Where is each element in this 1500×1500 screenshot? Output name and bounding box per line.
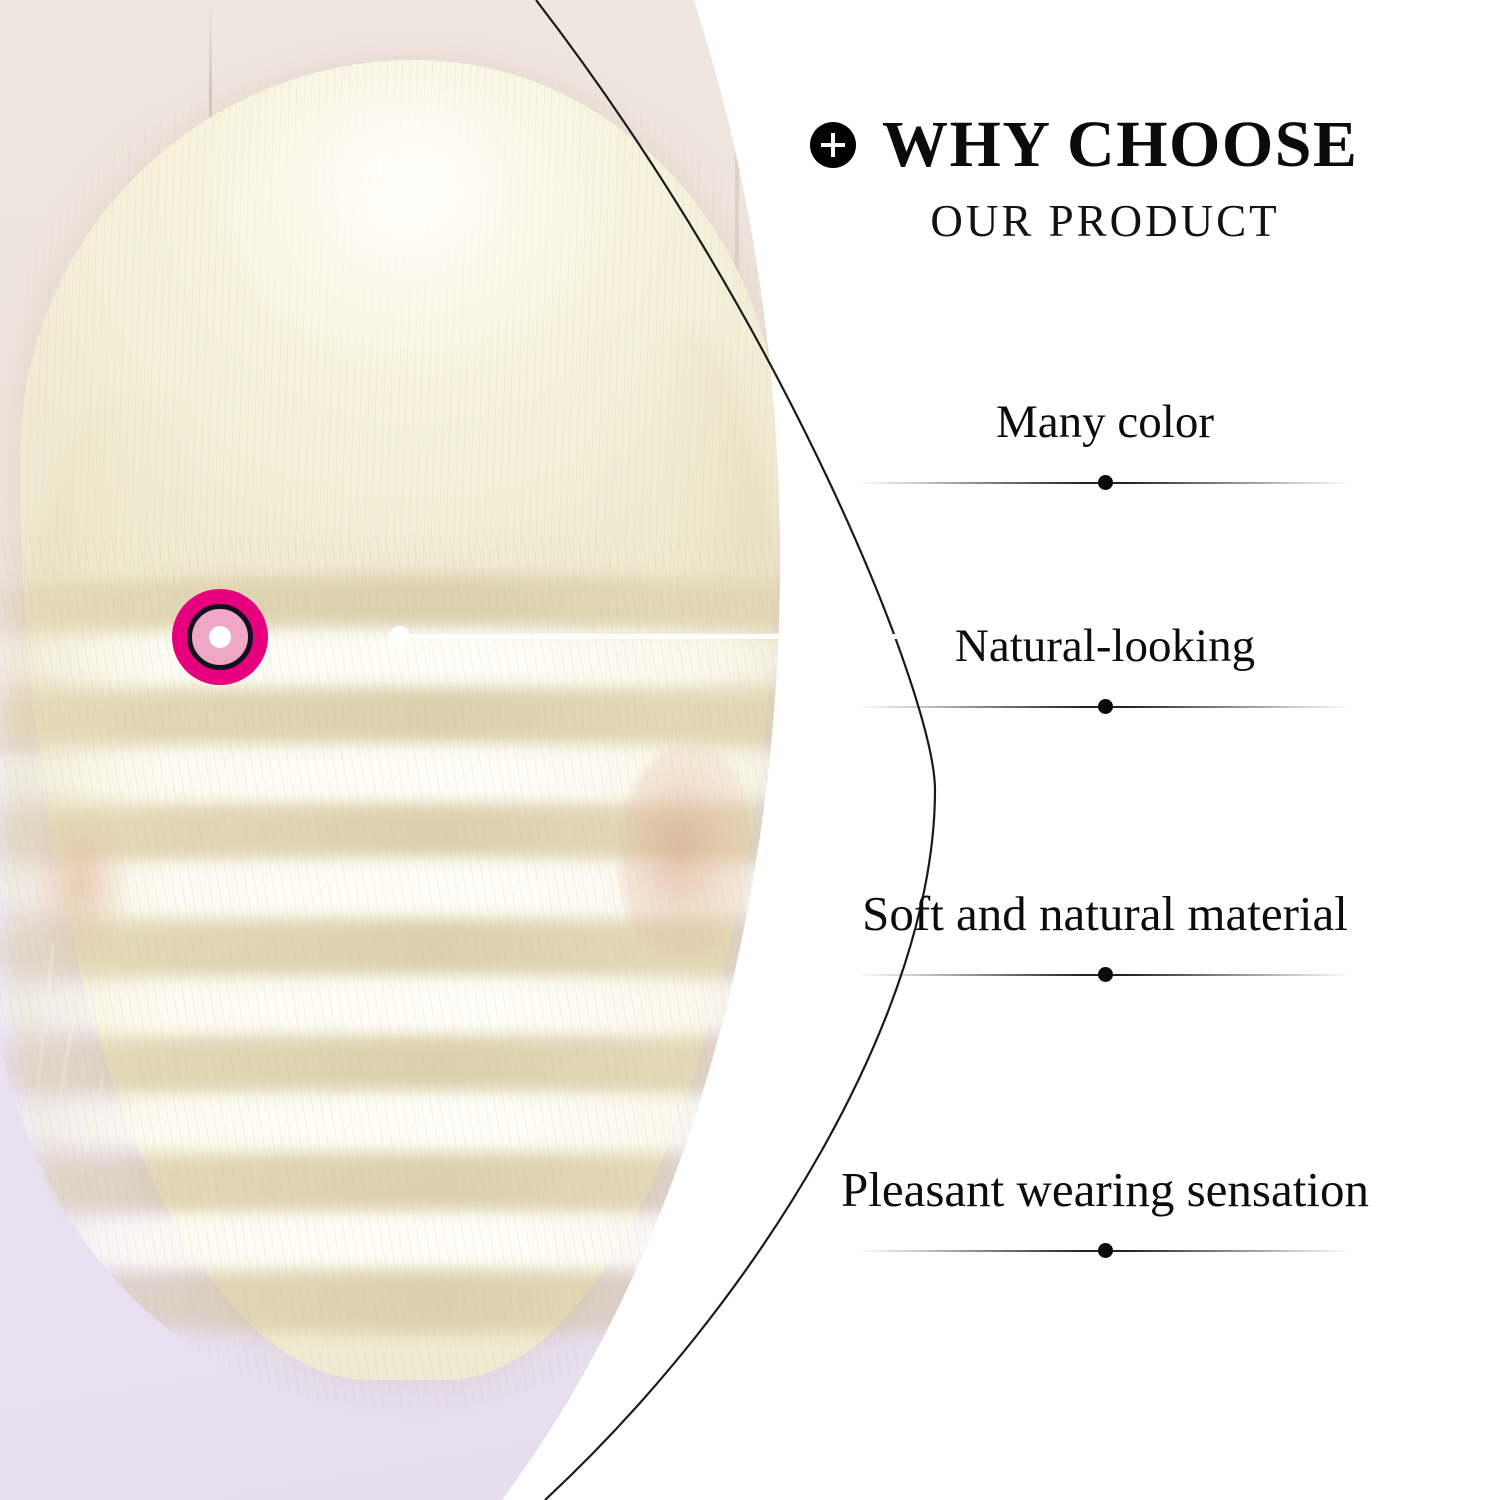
page-title: WHY CHOOSE (882, 112, 1358, 178)
divider-dot (1098, 475, 1113, 490)
feature-divider (856, 697, 1354, 717)
title-row: WHY CHOOSE (810, 112, 1358, 178)
page-subtitle: OUR PRODUCT (760, 195, 1450, 247)
infographic-canvas: WHY CHOOSE OUR PRODUCT Many color Natura… (0, 0, 1500, 1500)
feature-divider (856, 473, 1354, 493)
feature-item-soft-material: Soft and natural material (760, 888, 1450, 985)
divider-dot (1098, 967, 1113, 982)
marker-pointer-line (400, 634, 940, 639)
divider-dot (1098, 1243, 1113, 1258)
plus-circle-icon (810, 122, 856, 168)
feature-divider (856, 965, 1354, 985)
natural-looking-marker-icon (172, 589, 268, 685)
product-photo (0, 0, 880, 1500)
lace-cap-patch-right (620, 746, 749, 957)
hair-crown-highlight (233, 86, 583, 350)
lace-cap-patch-left (35, 812, 126, 957)
feature-item-pleasant-wearing: Pleasant wearing sensation (760, 1164, 1450, 1261)
marker-core-dot (209, 626, 231, 648)
feature-label: Soft and natural material (760, 888, 1450, 939)
feature-item-many-color: Many color (760, 398, 1450, 493)
feature-label: Many color (760, 398, 1450, 447)
divider-dot (1098, 699, 1113, 714)
hair-wave-section (0, 535, 810, 1406)
feature-divider (856, 1241, 1354, 1261)
wig-product (20, 60, 780, 1380)
feature-label: Pleasant wearing sensation (760, 1164, 1450, 1215)
feature-label: Natural-looking (760, 622, 1450, 671)
marker-pointer-dot (389, 626, 410, 647)
content-column: WHY CHOOSE OUR PRODUCT Many color Natura… (760, 0, 1500, 1500)
